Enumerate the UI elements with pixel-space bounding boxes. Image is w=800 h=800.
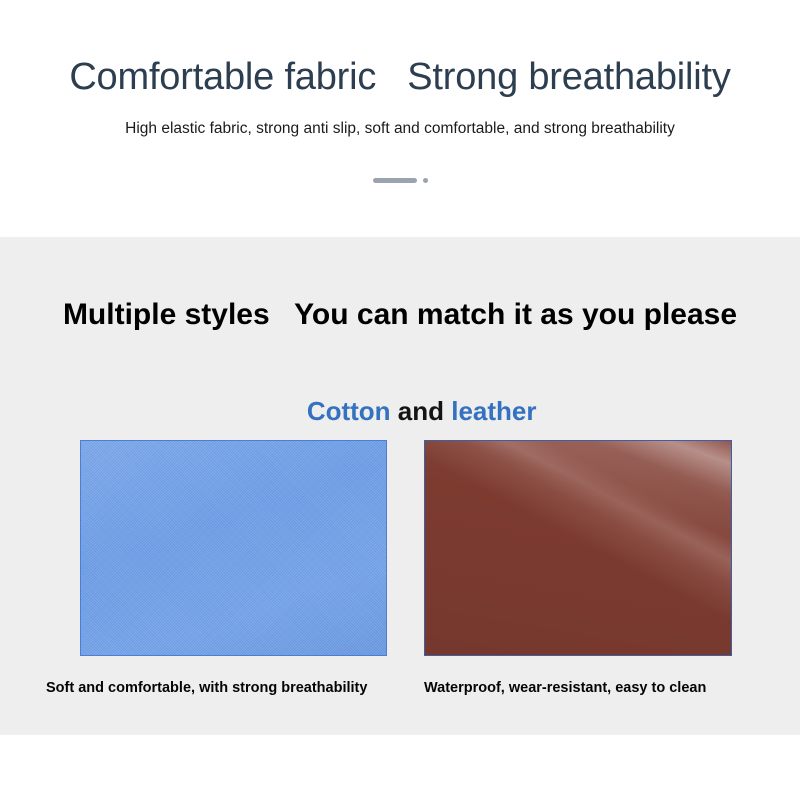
hero-subtitle: High elastic fabric, strong anti slip, s… (0, 119, 800, 139)
material-name-cotton: Cotton (307, 396, 391, 426)
swatch-item-leather[interactable]: Waterproof, wear-resistant, easy to clea… (424, 440, 732, 697)
divider-bar-icon (373, 178, 417, 183)
footer-spacer (0, 735, 800, 800)
swatch-gallery: Soft and comfortable, with strong breath… (0, 440, 800, 720)
swatch-image-cotton[interactable] (80, 440, 387, 656)
section-divider (0, 170, 800, 190)
swatch-caption-leather: Waterproof, wear-resistant, easy to clea… (424, 679, 732, 697)
hero-title: Comfortable fabric Strong breathability (0, 53, 800, 102)
hero-section: Comfortable fabric Strong breathability … (0, 0, 800, 237)
material-name-leather: leather (451, 396, 536, 426)
swatch-caption-cotton: Soft and comfortable, with strong breath… (46, 679, 387, 697)
material-conjunction: and (391, 396, 452, 426)
product-detail-page: Comfortable fabric Strong breathability … (0, 0, 800, 800)
materials-title: Multiple styles You can match it as you … (0, 295, 800, 334)
swatch-image-leather[interactable] (424, 440, 732, 656)
swatch-item-cotton[interactable]: Soft and comfortable, with strong breath… (80, 440, 387, 697)
materials-section: Multiple styles You can match it as you … (0, 237, 800, 735)
divider-dot-icon (423, 178, 428, 183)
